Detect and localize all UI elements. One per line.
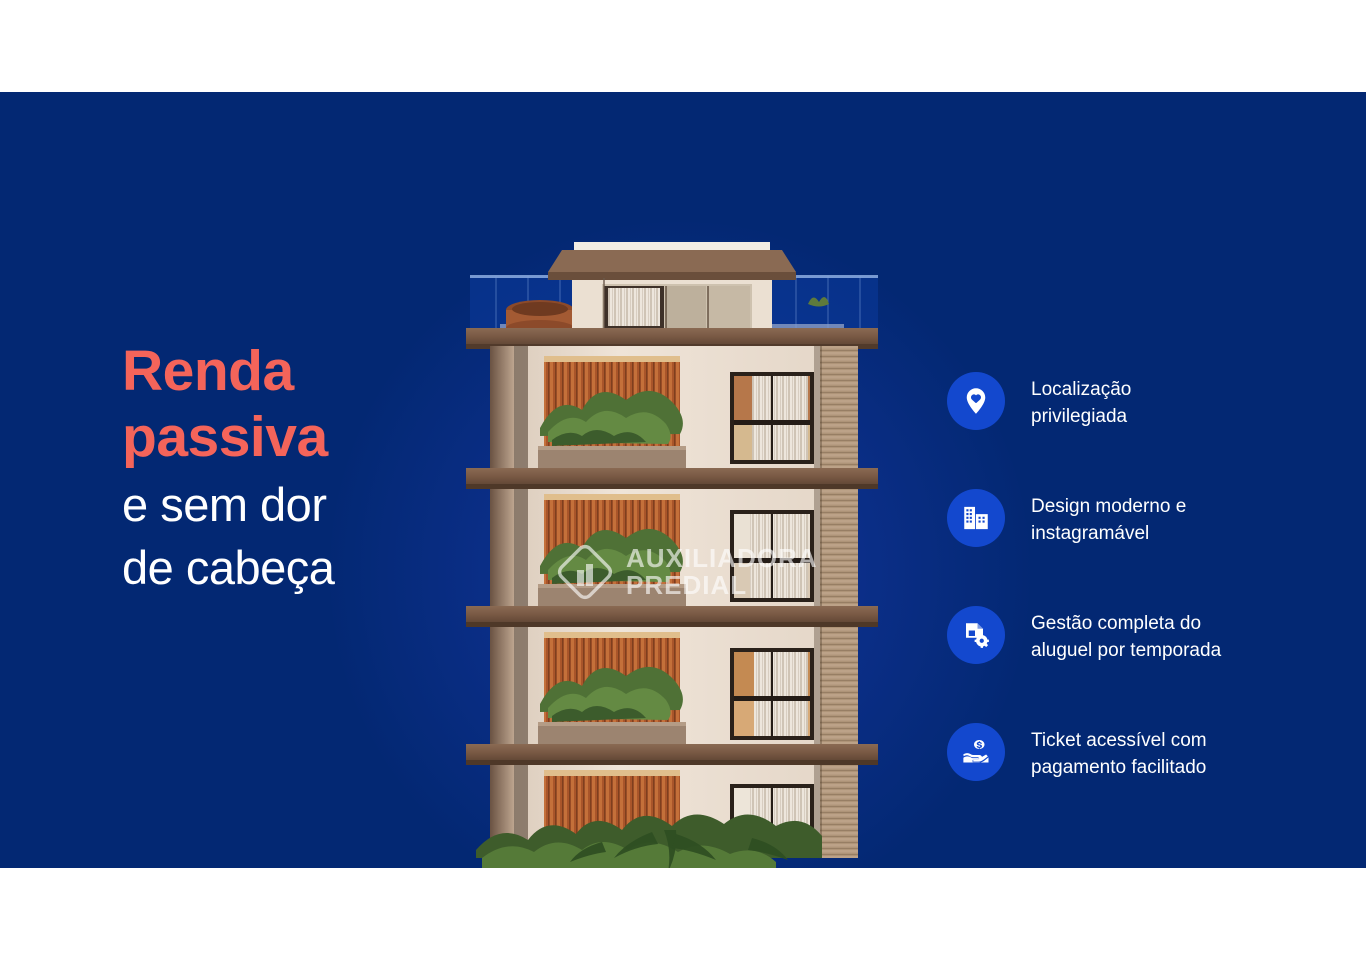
map-pin-heart-icon: [947, 372, 1005, 430]
headline-accent-line-1: Renda: [122, 338, 452, 404]
headline-block: Renda passiva e sem dor de cabeça: [122, 338, 452, 595]
feature-label: Ticket acessível com pagamento facilitad…: [1031, 723, 1207, 782]
hand-dollar-icon: [947, 723, 1005, 781]
feature-item-gestao: Gestão completa do aluguel por temporada: [947, 606, 1307, 665]
headline-plain-line-1: e sem dor: [122, 478, 452, 533]
feature-label: Gestão completa do aluguel por temporada: [1031, 606, 1221, 665]
feature-item-design: Design moderno e instagramável: [947, 489, 1307, 548]
headline-accent-line-2: passiva: [122, 404, 452, 470]
building-render: [452, 232, 892, 868]
feature-item-ticket: Ticket acessível com pagamento facilitad…: [947, 723, 1307, 782]
feature-list: Localização privilegiada: [947, 372, 1307, 782]
feature-item-localizacao: Localização privilegiada: [947, 372, 1307, 431]
document-gear-icon: [947, 606, 1005, 664]
feature-label: Localização privilegiada: [1031, 372, 1131, 431]
promo-banner: Renda passiva e sem dor de cabeça: [0, 92, 1366, 868]
ad-canvas: Renda passiva e sem dor de cabeça: [0, 0, 1366, 965]
feature-label: Design moderno e instagramável: [1031, 489, 1186, 548]
headline-plain-line-2: de cabeça: [122, 541, 452, 596]
buildings-icon: [947, 489, 1005, 547]
